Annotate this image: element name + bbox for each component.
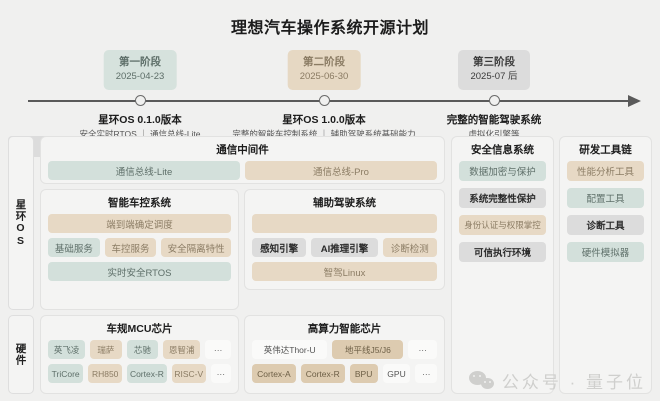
module-adas-linux[interactable]: 智驾Linux [252,262,437,281]
phase-label-2: 第二阶段 [300,55,349,70]
vehicle-control-body: 端到端确定调度 基础服务 车控服务 安全隔离特性 实时安全RTOS [41,214,238,281]
milestone-title-3: 完整的智能驾驶系统 [447,112,542,127]
panel-title-soc: 高算力智能芯片 [245,316,444,340]
phase-chip-3[interactable]: 第三阶段 2025-07 后 [458,50,530,90]
module-comm-bus-lite[interactable]: 通信总线-Lite [48,161,240,180]
chip-tag-nvidia-thor-u[interactable]: 英伟达Thor-U [252,340,327,359]
milestone-title-2: 星环OS 1.0.0版本 [282,112,365,127]
chip-tag-renesas[interactable]: 瑞萨 [90,340,121,359]
panel-toolchain: 研发工具链 性能分析工具 配置工具 诊断工具 硬件模拟器 [559,136,652,394]
chip-tag-risc-v[interactable]: RISC-V [172,364,206,383]
layer-label-hardware-text: 硬件 [14,343,29,366]
panel-title-toolchain: 研发工具链 [560,137,651,161]
mcu-body: 英飞凌 瑞萨 芯驰 恩智浦 ··· TriCore RH850 Cortex-R… [41,340,238,383]
panel-mcu-chips: 车规MCU芯片 英飞凌 瑞萨 芯驰 恩智浦 ··· TriCore RH850 … [40,315,239,394]
panel-title-communication: 通信中间件 [41,137,444,161]
panel-communication-middleware: 通信中间件 通信总线-Lite 通信总线-Pro [40,136,445,184]
chip-tag-tricore[interactable]: TriCore [48,364,83,383]
panel-security-system: 安全信息系统 数据加密与保护 系统完整性保护 身份认证与权限掌控 可信执行环境 [451,136,554,394]
module-performance-analysis-tool[interactable]: 性能分析工具 [567,161,644,181]
module-adas-scheduling-spacer [252,214,437,233]
soc-row-1: 英伟达Thor-U 地平线J5/J6 ··· [252,340,437,359]
phase-date-2: 2025-06-30 [300,70,349,84]
panel-adas: 辅助驾驶系统 感知引擎 AI推理引擎 诊断检测 智驾Linux [244,189,445,290]
adas-items-row: 感知引擎 AI推理引擎 诊断检测 [252,238,437,257]
module-ai-inference-engine[interactable]: AI推理引擎 [311,238,377,257]
phase-chip-1[interactable]: 第一阶段 2025-04-23 [104,50,177,90]
timeline-arrow-icon [628,95,641,107]
panel-title-security: 安全信息系统 [452,137,553,161]
panel-title-vehicle-control: 智能车控系统 [41,190,238,214]
chip-tag-cortex-a[interactable]: Cortex-A [252,364,296,383]
phase-date-3: 2025-07 后 [470,70,518,84]
module-trusted-execution[interactable]: 可信执行环境 [459,242,546,262]
roadmap-timeline: 第一阶段 2025-04-23 星环OS 0.1.0版本 安全实时RTOS ｜ … [0,50,660,128]
layer-label-os: 星环OS [8,136,34,310]
chip-tag-horizon-j5-j6[interactable]: 地平线J5/J6 [332,340,403,359]
chip-tag-mcu-more-2[interactable]: ··· [211,364,231,383]
soc-row-2: Cortex-A Cortex-R BPU GPU ··· [252,364,437,383]
chip-tag-soc-more-1[interactable]: ··· [408,340,437,359]
timeline-node-2 [319,95,330,106]
panel-soc-chips: 高算力智能芯片 英伟达Thor-U 地平线J5/J6 ··· Cortex-A … [244,315,445,394]
timeline-node-3 [489,95,500,106]
adas-body: 感知引擎 AI推理引擎 诊断检测 智驾Linux [245,214,444,281]
module-vehicle-control-service[interactable]: 车控服务 [105,238,157,257]
module-data-encryption[interactable]: 数据加密与保护 [459,161,546,181]
layer-label-os-text: 星环OS [14,199,29,248]
module-safety-isolation[interactable]: 安全隔离特性 [161,238,231,257]
module-base-service[interactable]: 基础服务 [48,238,100,257]
phase-label-1: 第一阶段 [116,55,165,70]
timeline-axis [28,100,632,102]
chip-tag-nxp[interactable]: 恩智浦 [163,340,200,359]
mcu-row-2: TriCore RH850 Cortex-R RISC-V ··· [48,364,231,383]
mcu-row-1: 英飞凌 瑞萨 芯驰 恩智浦 ··· [48,340,231,359]
panel-title-mcu: 车规MCU芯片 [41,316,238,340]
chip-tag-bpu[interactable]: BPU [350,364,378,383]
chip-tag-gpu[interactable]: GPU [383,364,411,383]
module-realtime-safe-rtos[interactable]: 实时安全RTOS [48,262,231,281]
module-end-to-end-scheduling[interactable]: 端到端确定调度 [48,214,231,233]
timeline-node-1 [135,95,146,106]
layer-label-hardware: 硬件 [8,315,34,394]
chip-tag-semidrive[interactable]: 芯驰 [127,340,158,359]
module-perception-engine[interactable]: 感知引擎 [252,238,306,257]
panel-vehicle-control: 智能车控系统 端到端确定调度 基础服务 车控服务 安全隔离特性 实时安全RTOS [40,189,239,310]
chip-tag-rh850[interactable]: RH850 [88,364,122,383]
architecture-diagram: 星环OS 硬件 通信中间件 通信总线-Lite 通信总线-Pro 智能车控系统 … [8,136,652,394]
module-comm-bus-pro[interactable]: 通信总线-Pro [245,161,437,180]
phase-label-3: 第三阶段 [470,55,518,70]
phase-date-1: 2025-04-23 [116,70,165,84]
soc-body: 英伟达Thor-U 地平线J5/J6 ··· Cortex-A Cortex-R… [245,340,444,383]
chip-tag-cortex-r-mcu[interactable]: Cortex-R [127,364,167,383]
module-system-integrity[interactable]: 系统完整性保护 [459,188,546,208]
module-identity-auth[interactable]: 身份认证与权限掌控 [459,215,546,235]
milestone-title-1: 星环OS 0.1.0版本 [98,112,181,127]
module-diagnostics-detection[interactable]: 诊断检测 [383,238,437,257]
chip-tag-soc-more-2[interactable]: ··· [415,364,437,383]
module-hardware-simulator[interactable]: 硬件模拟器 [567,242,644,262]
module-diagnostic-tool[interactable]: 诊断工具 [567,215,644,235]
chip-tag-mcu-more-1[interactable]: ··· [205,340,231,359]
panel-title-adas: 辅助驾驶系统 [245,190,444,214]
module-config-tool[interactable]: 配置工具 [567,188,644,208]
infographic-root: 理想汽车操作系统开源计划 第一阶段 2025-04-23 星环OS 0.1.0版… [0,0,660,401]
vehicle-control-items-row: 基础服务 车控服务 安全隔离特性 [48,238,231,257]
chip-tag-infineon[interactable]: 英飞凌 [48,340,85,359]
phase-chip-2[interactable]: 第二阶段 2025-06-30 [288,50,361,90]
chip-tag-cortex-r-soc[interactable]: Cortex-R [301,364,345,383]
communication-items-row: 通信总线-Lite 通信总线-Pro [41,161,444,180]
page-title: 理想汽车操作系统开源计划 [0,14,660,38]
